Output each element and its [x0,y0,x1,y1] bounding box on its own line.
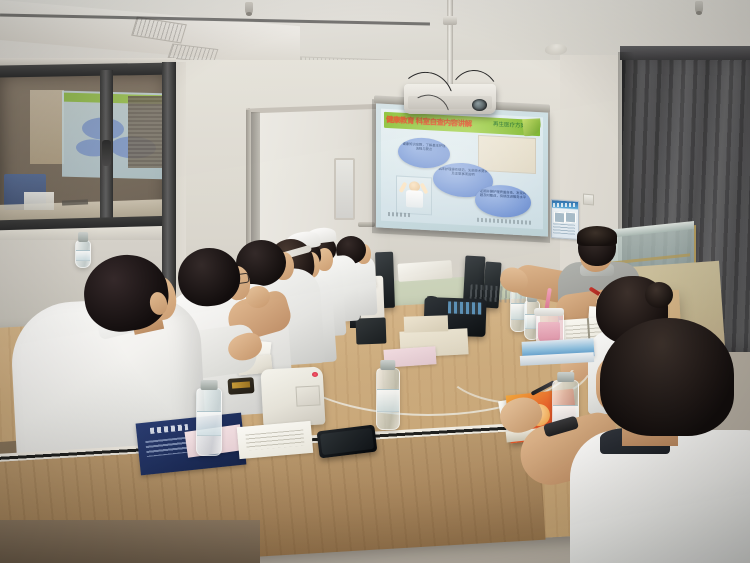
window-latch[interactable] [102,140,111,166]
water-bottle [376,368,400,430]
water-bottle [196,388,222,456]
slide-bubble: 健康知识宣教，了解基本护理流程与要点 [398,137,450,170]
projector-lens [472,99,487,111]
window-reflection-blind [128,96,162,168]
wall-poster-text [553,223,575,235]
wall-poster-image [565,212,576,224]
white-equipment [397,260,452,282]
projector-mount-pole [447,0,453,86]
floor [0,520,260,563]
slide-bubble: 定期开展护理质量自查，发现问题及时整改，持续改进服务水平 [475,184,531,219]
wall-poster-image [554,212,565,224]
water-bottle [75,240,91,268]
presenter-hair [577,226,617,246]
slide-footer-left [388,212,410,217]
cartoon-body [406,190,423,208]
wall-poster-title [553,203,575,207]
slide-cartoon-figure [396,175,432,215]
slide-footer-right [477,218,533,225]
attendee-hair-bun [645,282,673,308]
attendee-hair [600,318,734,436]
presentation-slide: 健康教育 科室自查内容讲解 再生医疗方案 健康知识宣教，了解基本护理流程与要点 … [381,109,543,230]
curtain-rail [620,46,750,60]
conference-room-photo: 健康教育 科室自查内容讲解 再生医疗方案 健康知识宣教，了解基本护理流程与要点 … [0,0,750,563]
window-reflection-panel [30,90,64,164]
projection-screen: 健康教育 科室自查内容讲解 再生医疗方案 健康知识宣教，了解基本护理流程与要点 … [376,103,548,236]
bag-pen-slots [448,301,482,314]
cup-lid [534,308,564,316]
interior-window-glass [0,74,168,226]
sprinkler-head-icon [245,2,253,15]
sprinkler-head-icon [695,1,703,14]
door-window-pane [334,158,355,220]
projector-mount-joint [443,16,457,25]
status-led [312,372,318,377]
paper-box [404,315,449,333]
window-reflection-box [24,192,54,210]
instrument-base [356,317,387,344]
light-switch[interactable] [583,194,594,206]
slide-photo [478,135,536,174]
instrument-panel [295,385,320,406]
tin-label [232,381,250,388]
